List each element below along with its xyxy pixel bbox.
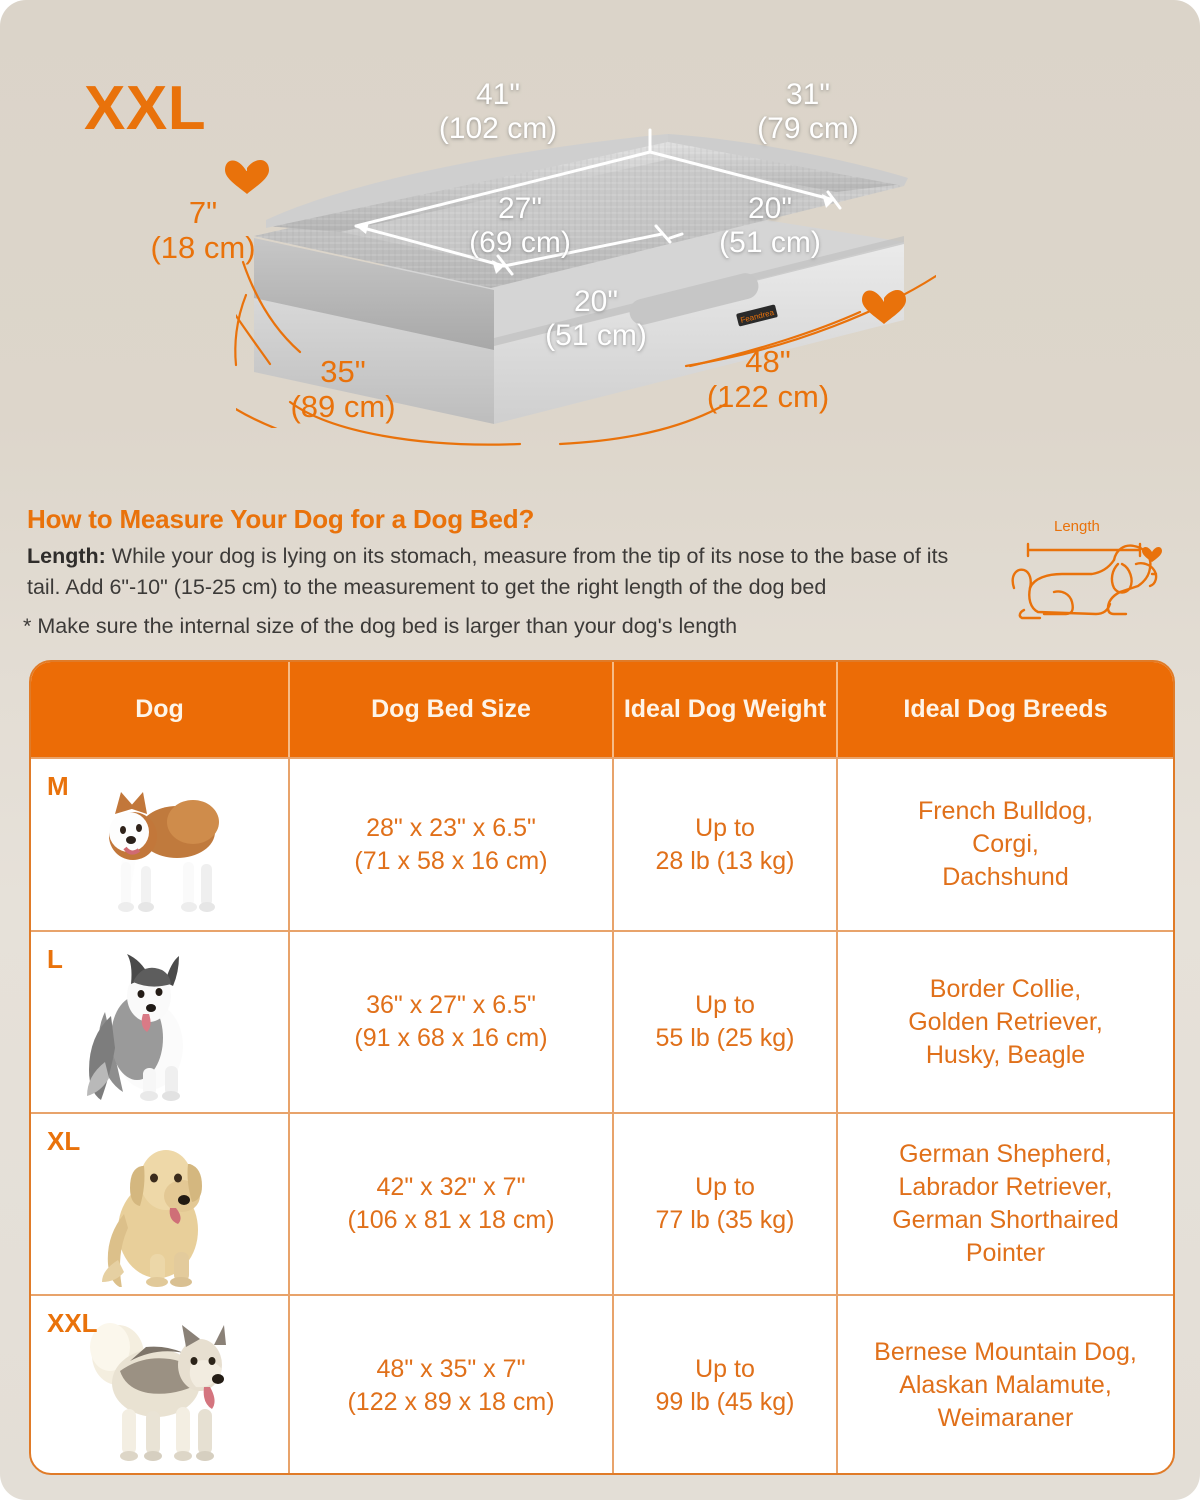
dog-bed-illustration: Feandrea <box>236 108 936 428</box>
measure-section-note: * Make sure the internal size of the dog… <box>23 614 973 639</box>
bed-size-in-m: 28" x 23" x 6.5" <box>354 812 547 845</box>
labrador-photo <box>62 1122 257 1287</box>
bed-size-cell-l: 36" x 27" x 6.5" (91 x 68 x 16 cm) <box>290 932 614 1112</box>
measure-section-body: Length: While your dog is lying on its s… <box>27 541 977 602</box>
size-tag-xxl: XXL <box>47 1306 98 1340</box>
dog-cell-xxl: XXL <box>31 1296 290 1475</box>
weight-line2-m: 28 lb (13 kg) <box>656 845 795 878</box>
bed-size-cm-l: (91 x 68 x 16 cm) <box>354 1022 547 1055</box>
bed-size-cell-xl: 42" x 32" x 7" (106 x 81 x 18 cm) <box>290 1114 614 1294</box>
weight-cell-m: Up to 28 lb (13 kg) <box>614 759 838 930</box>
measure-section-title: How to Measure Your Dog for a Dog Bed? <box>27 504 534 535</box>
dog-size-table: Dog Dog Bed Size Ideal Dog Weight Ideal … <box>29 660 1175 1475</box>
bed-size-in-l: 36" x 27" x 6.5" <box>354 989 547 1022</box>
weight-cell-l: Up to 55 lb (25 kg) <box>614 932 838 1112</box>
hero-bed-diagram: XXL <box>0 0 1200 480</box>
bed-svg: Feandrea <box>236 108 936 428</box>
breeds-cell-m: French Bulldog, Corgi, Dachshund <box>838 759 1173 930</box>
bed-size-cm-xl: (106 x 81 x 18 cm) <box>347 1204 554 1237</box>
size-tag-m: M <box>47 769 69 803</box>
table-row: XXL <box>31 1294 1173 1475</box>
bed-size-cm-m: (71 x 58 x 16 cm) <box>354 845 547 878</box>
dog-cell-l: L <box>31 932 290 1112</box>
table-header-weight: Ideal Dog Weight <box>614 662 838 757</box>
weight-line1-l: Up to <box>656 989 795 1022</box>
bed-size-cell-xxl: 48" x 35" x 7" (122 x 89 x 18 cm) <box>290 1296 614 1475</box>
table-row: L <box>31 930 1173 1112</box>
weight-line1-xxl: Up to <box>656 1353 795 1386</box>
weight-cell-xxl: Up to 99 lb (45 kg) <box>614 1296 838 1475</box>
lying-dog-icon <box>1000 518 1176 634</box>
weight-line1-m: Up to <box>656 812 795 845</box>
corgi-photo <box>65 770 255 920</box>
size-tag-xl: XL <box>47 1124 80 1158</box>
dog-length-diagram-icon: Length <box>1000 518 1176 634</box>
heart-icon <box>1142 547 1162 562</box>
weight-line2-l: 55 lb (25 kg) <box>656 1022 795 1055</box>
bed-size-in-xl: 42" x 32" x 7" <box>347 1171 554 1204</box>
table-header-row: Dog Dog Bed Size Ideal Dog Weight Ideal … <box>31 662 1173 757</box>
table-row: XL <box>31 1112 1173 1294</box>
infographic-page: XXL <box>0 0 1200 1500</box>
weight-line2-xl: 77 lb (35 kg) <box>656 1204 795 1237</box>
table-header-bed-size: Dog Bed Size <box>290 662 614 757</box>
table-row: M <box>31 757 1173 930</box>
size-badge-xxl: XXL <box>84 78 206 140</box>
size-tag-l: L <box>47 942 63 976</box>
weight-line1-xl: Up to <box>656 1171 795 1204</box>
weight-cell-xl: Up to 77 lb (35 kg) <box>614 1114 838 1294</box>
bed-size-in-xxl: 48" x 35" x 7" <box>347 1353 554 1386</box>
length-icon-label: Length <box>1054 518 1100 535</box>
breeds-cell-xl: German Shepherd, Labrador Retriever, Ger… <box>838 1114 1173 1294</box>
dog-cell-m: M <box>31 759 290 930</box>
bed-size-cm-xxl: (122 x 89 x 18 cm) <box>347 1386 554 1419</box>
bed-size-cell-m: 28" x 23" x 6.5" (71 x 58 x 16 cm) <box>290 759 614 930</box>
measure-length-label: Length: <box>27 544 106 568</box>
table-header-dog: Dog <box>31 662 290 757</box>
breeds-cell-l: Border Collie, Golden Retriever, Husky, … <box>838 932 1173 1112</box>
breeds-cell-xxl: Bernese Mountain Dog, Alaskan Malamute, … <box>838 1296 1173 1475</box>
dog-cell-xl: XL <box>31 1114 290 1294</box>
border-collie-photo <box>65 942 255 1102</box>
table-header-breeds: Ideal Dog Breeds <box>838 662 1173 757</box>
measure-body-text: While your dog is lying on its stomach, … <box>27 544 948 599</box>
weight-line2-xxl: 99 lb (45 kg) <box>656 1386 795 1419</box>
